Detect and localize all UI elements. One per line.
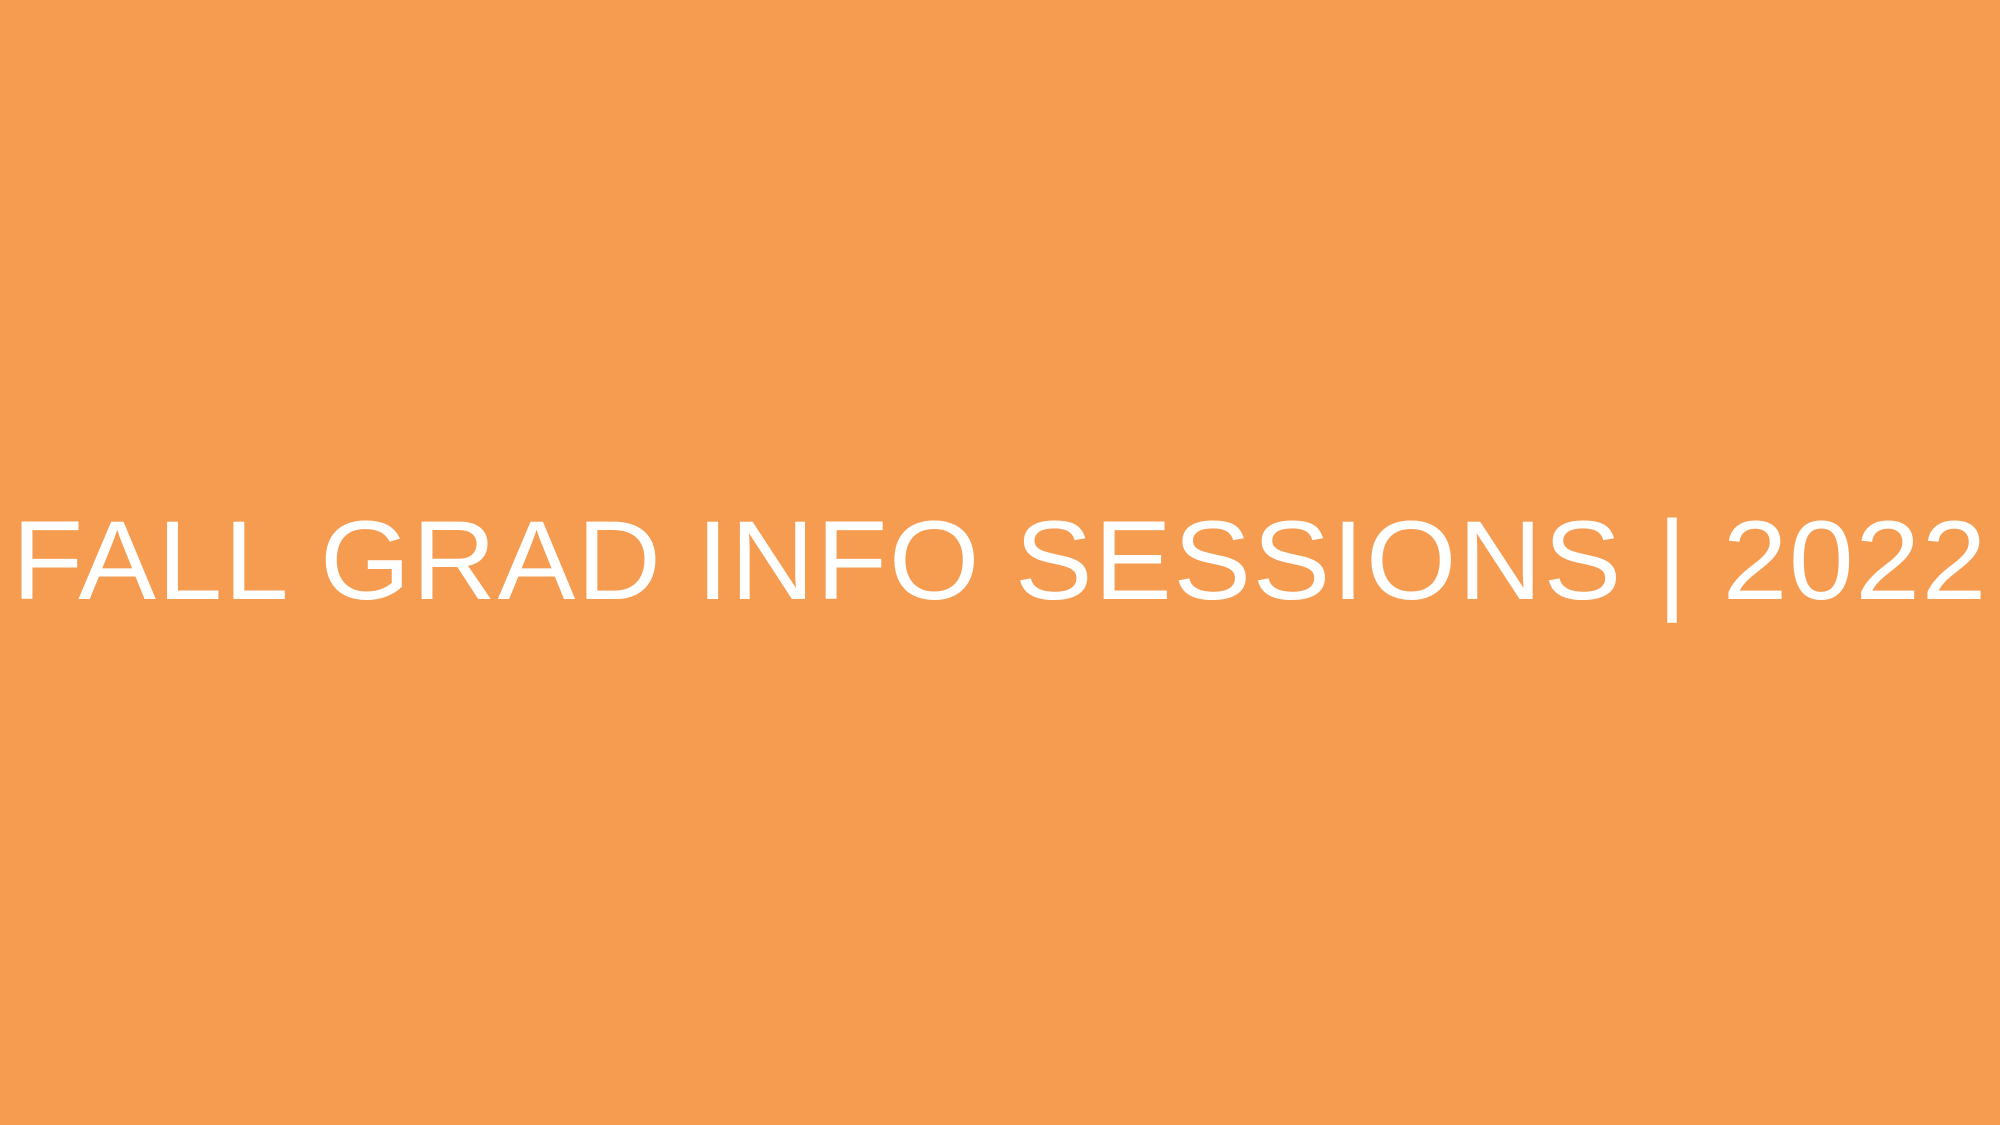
promo-banner: FALL GRAD INFO SESSIONS | 2022 bbox=[0, 0, 2000, 1125]
banner-title: FALL GRAD INFO SESSIONS | 2022 bbox=[12, 505, 1988, 617]
